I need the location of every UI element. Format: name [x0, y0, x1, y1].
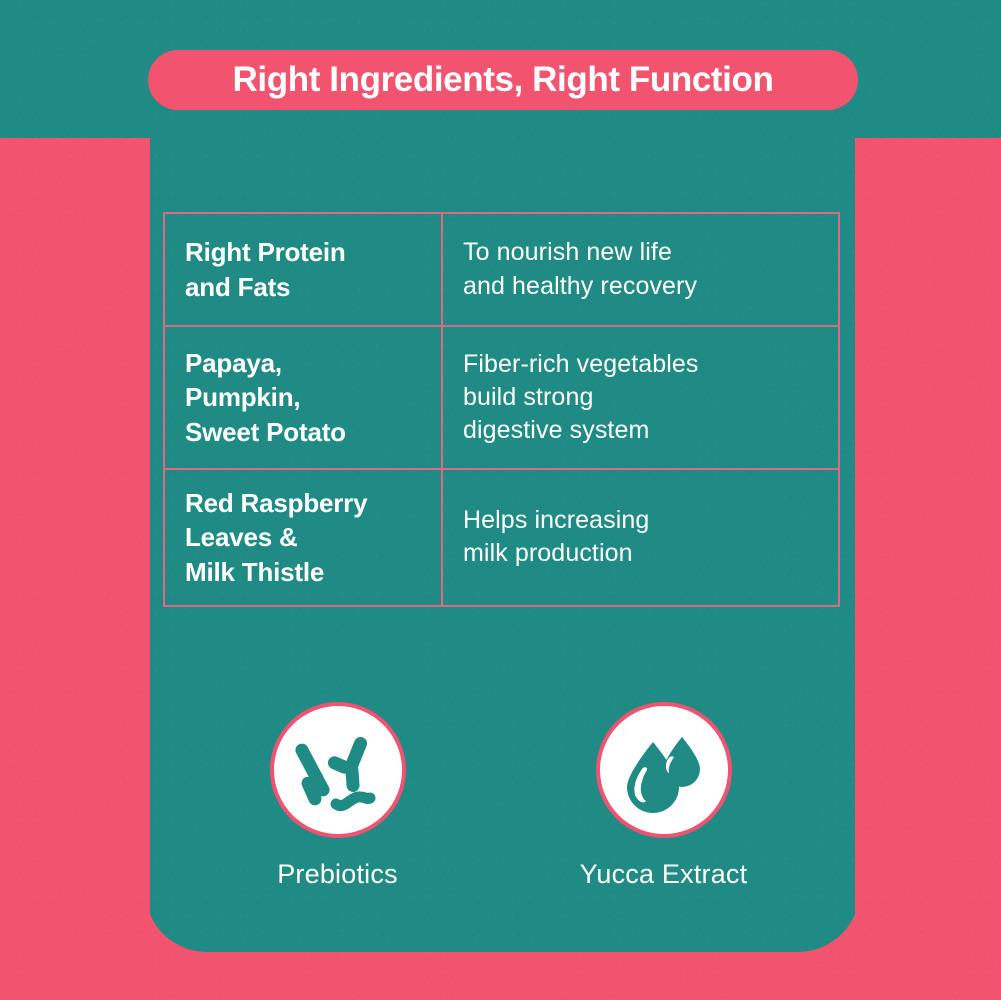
badge-prebiotics: Prebiotics [248, 702, 428, 890]
ingredient-name-cell: Red RaspberryLeaves &Milk Thistle [164, 469, 442, 606]
badge-label: Prebiotics [277, 859, 398, 890]
badge-label: Yucca Extract [580, 859, 748, 890]
side-panel-right [855, 138, 1001, 968]
table-row: Papaya,Pumpkin,Sweet Potato Fiber-rich v… [164, 326, 839, 469]
ingredient-function-text: Fiber-rich vegetablesbuild strongdigesti… [463, 350, 699, 445]
ingredient-function-cell: To nourish new lifeand healthy recovery [442, 213, 839, 326]
title-pill: Right Ingredients, Right Function [148, 50, 858, 110]
badge-circle [270, 702, 406, 838]
feature-badges: Prebiotics [163, 702, 838, 890]
ingredient-function-cell: Helps increasingmilk production [442, 469, 839, 606]
table-row: Right Proteinand Fats To nourish new lif… [164, 213, 839, 326]
ingredient-name-text: Red RaspberryLeaves &Milk Thistle [185, 488, 367, 587]
badge-circle [596, 702, 732, 838]
ingredient-function-text: Helps increasingmilk production [463, 506, 649, 567]
ingredient-name-cell: Right Proteinand Fats [164, 213, 442, 326]
poster-canvas: Right Ingredients, Right Function Right … [0, 0, 1001, 1000]
page-title: Right Ingredients, Right Function [233, 62, 774, 99]
ingredient-name-cell: Papaya,Pumpkin,Sweet Potato [164, 326, 442, 469]
ingredient-function-text: To nourish new lifeand healthy recovery [463, 238, 697, 299]
ingredient-name-text: Papaya,Pumpkin,Sweet Potato [185, 348, 346, 447]
ingredient-function-cell: Fiber-rich vegetablesbuild strongdigesti… [442, 326, 839, 469]
ingredient-name-text: Right Proteinand Fats [185, 237, 346, 301]
bacteria-icon [292, 724, 384, 816]
table-row: Red RaspberryLeaves &Milk Thistle Helps … [164, 469, 839, 606]
side-panel-left [0, 138, 150, 968]
water-droplets-icon [618, 724, 710, 816]
badge-yucca-extract: Yucca Extract [574, 702, 754, 890]
ingredients-table: Right Proteinand Fats To nourish new lif… [163, 212, 840, 607]
